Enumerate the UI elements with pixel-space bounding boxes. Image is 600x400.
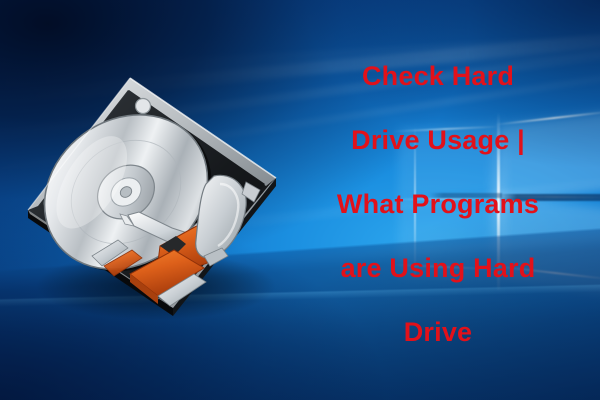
- headline-line-4: are Using Hard: [276, 236, 600, 300]
- headline-line-5: Drive: [276, 300, 600, 364]
- hard-disk-drive-illustration: [8, 60, 288, 320]
- headline-line-1: Check Hard: [276, 44, 600, 108]
- headline-line-2: Drive Usage |: [276, 108, 600, 172]
- hdd-cover-screw-top: [136, 99, 151, 114]
- hdd-air-filter-shroud: [196, 175, 246, 266]
- thumbnail-canvas: Check Hard Drive Usage | What Programs a…: [0, 0, 600, 400]
- headline-line-3: What Programs: [276, 172, 600, 236]
- headline-text: Check Hard Drive Usage | What Programs a…: [276, 44, 600, 364]
